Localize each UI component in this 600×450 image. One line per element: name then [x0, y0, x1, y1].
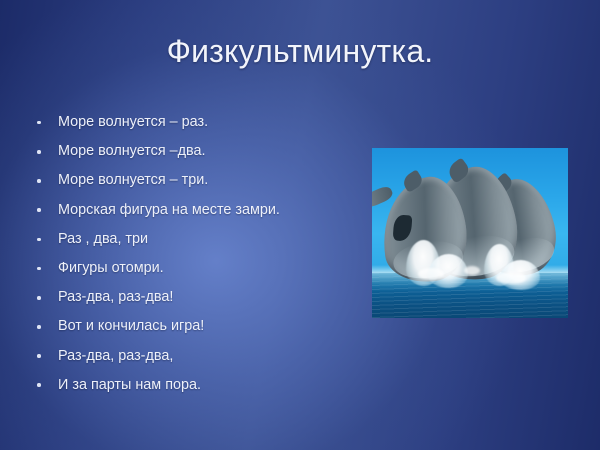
presentation-slide: Физкультминутка. Море волнуется – раз. М… [0, 0, 600, 450]
list-item: Море волнуется – раз. [30, 108, 360, 137]
list-item-label: Море волнуется – раз. [58, 114, 208, 130]
list-item: Раз-два, раз-два, [30, 342, 360, 371]
water-spray [418, 268, 444, 280]
list-item-label: И за парты нам пора. [58, 377, 201, 393]
list-item: Море волнуется –два. [30, 137, 360, 166]
list-item: Раз-два, раз-два! [30, 283, 360, 312]
bullet-dot-icon [37, 296, 41, 300]
bullet-dot-icon [37, 383, 41, 387]
list-item-label: Раз-два, раз-два! [58, 289, 173, 305]
list-item-label: Раз-два, раз-два, [58, 348, 173, 364]
bullet-dot-icon [37, 121, 41, 125]
water-spray [464, 266, 480, 275]
list-item-label: Море волнуется – три. [58, 172, 208, 188]
bullet-list: Море волнуется – раз. Море волнуется –дв… [30, 108, 360, 400]
bullet-dot-icon [37, 267, 41, 271]
bullet-dot-icon [37, 238, 41, 242]
page-title: Физкультминутка. [0, 30, 600, 72]
water-spray [496, 272, 526, 284]
bullet-dot-icon [37, 179, 41, 183]
list-item: Фигуры отомри. [30, 254, 360, 283]
list-item: И за парты нам пора. [30, 371, 360, 400]
list-item: Вот и кончилась игра! [30, 312, 360, 341]
list-item: Раз , два, три [30, 225, 360, 254]
list-item-label: Морская фигура на месте замри. [58, 202, 280, 218]
list-item-label: Раз , два, три [58, 231, 148, 247]
bullet-dot-icon [37, 208, 41, 212]
list-item-label: Вот и кончилась игра! [58, 318, 204, 334]
bullet-dot-icon [37, 354, 41, 358]
bullet-dot-icon [37, 150, 41, 154]
dolphins-photo [372, 148, 568, 318]
list-item: Море волнуется – три. [30, 166, 360, 195]
bullet-dot-icon [37, 325, 41, 329]
list-item-label: Фигуры отомри. [58, 260, 164, 276]
list-item: Морская фигура на месте замри. [30, 196, 360, 225]
list-item-label: Море волнуется –два. [58, 143, 206, 159]
